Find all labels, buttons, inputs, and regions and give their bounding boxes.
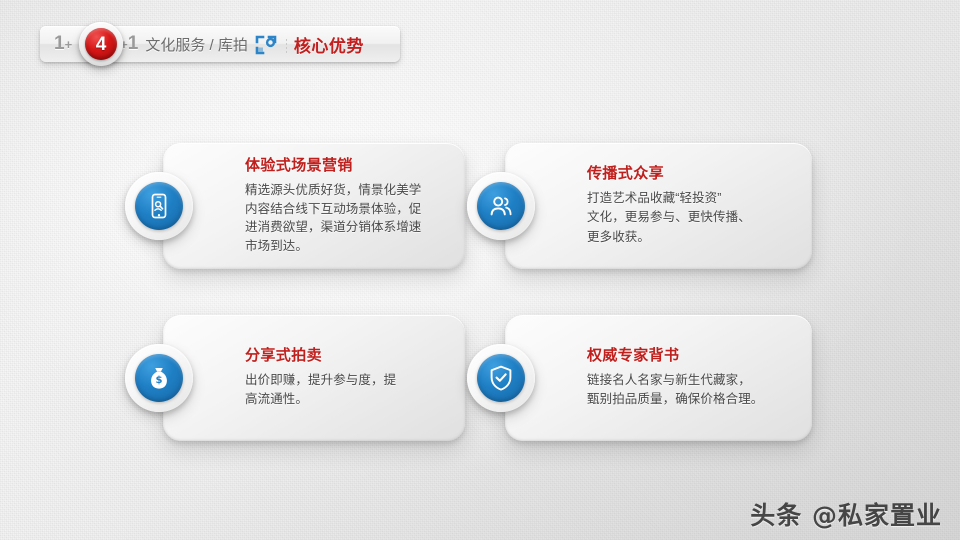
card-body: 体验式场景营销 精选源头优质好货，情景化美学 内容结合线下互动场景体验，促 进消… (245, 143, 451, 269)
slide-canvas: 1+ +1 文化服务 / 库拍 核心优势 4 (0, 0, 960, 540)
section-number-value: 4 (85, 28, 117, 60)
svg-text:$: $ (156, 375, 163, 386)
header-divider (286, 39, 287, 54)
header-left-number: 1+ (54, 33, 72, 55)
card-description: 出价即赚，提升参与度，提 高流通性。 (245, 371, 451, 410)
section-number-badge: 4 (79, 22, 123, 66)
card-description: 精选源头优质好货，情景化美学 内容结合线下互动场景体验，促 进消费欲望，渠道分销… (245, 181, 451, 255)
icon-well (467, 172, 535, 240)
card-body: 传播式众享 打造艺术品收藏“轻投资” 文化，更易参与、更快传播、 更多收获。 (587, 143, 798, 269)
card-title: 分享式拍卖 (245, 347, 451, 365)
feature-card-authoritative-expert-endorsement[interactable]: 权威专家背书 链接名人名家与新生代藏家， 甄别拍品质量，确保价格合理。 (505, 315, 812, 441)
feature-card-experience-scene-marketing[interactable]: 体验式场景营销 精选源头优质好货，情景化美学 内容结合线下互动场景体验，促 进消… (163, 143, 465, 269)
card-title: 体验式场景营销 (245, 157, 451, 175)
card-description: 链接名人名家与新生代藏家， 甄别拍品质量，确保价格合理。 (587, 371, 798, 410)
header-left-number-value: 1 (54, 33, 65, 54)
icon-well (125, 172, 193, 240)
card-body: 权威专家背书 链接名人名家与新生代藏家， 甄别拍品质量，确保价格合理。 (587, 315, 798, 441)
card-title: 权威专家背书 (587, 347, 798, 365)
card-title: 传播式众享 (587, 165, 798, 183)
shield-check-icon (477, 354, 525, 402)
feature-card-shared-auction[interactable]: $ 分享式拍卖 出价即赚，提升参与度，提 高流通性。 (163, 315, 465, 441)
scan-frame-icon (255, 35, 277, 55)
feature-card-viral-sharing[interactable]: 传播式众享 打造艺术品收藏“轻投资” 文化，更易参与、更快传播、 更多收获。 (505, 143, 812, 269)
header-left-plus: + (65, 37, 73, 52)
watermark: 头条 @私家置业 (750, 496, 942, 532)
icon-well (467, 344, 535, 412)
page-title: 核心优势 (294, 32, 364, 57)
mobile-search-icon (135, 182, 183, 230)
money-bag-icon: $ (135, 354, 183, 402)
card-description: 打造艺术品收藏“轻投资” 文化，更易参与、更快传播、 更多收获。 (587, 189, 798, 247)
header-right-number-value: 1 (128, 33, 139, 54)
icon-well: $ (125, 344, 193, 412)
breadcrumb: 文化服务 / 库拍 (145, 34, 248, 55)
people-group-icon (477, 182, 525, 230)
card-body: 分享式拍卖 出价即赚，提升参与度，提 高流通性。 (245, 315, 451, 441)
